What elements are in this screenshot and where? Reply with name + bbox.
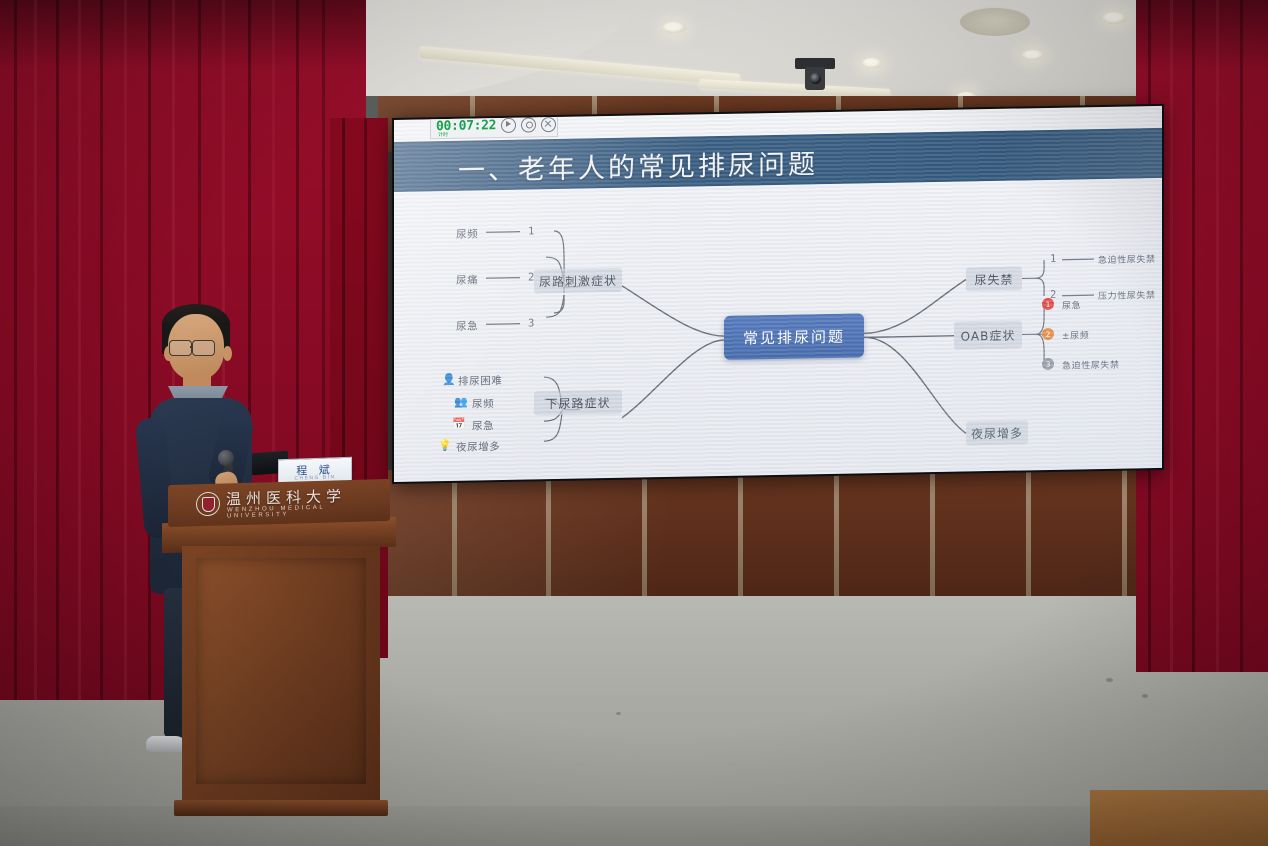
floor-speck (1142, 694, 1148, 698)
wood-panel-lower (380, 470, 1268, 600)
eyeglasses-right-lens (192, 340, 215, 356)
wood-seam (1122, 470, 1127, 600)
curtain-shadow (1136, 0, 1268, 70)
mindmap-leaf: 压力性尿失禁 (1098, 288, 1156, 302)
curtain-pleat (34, 0, 37, 700)
wooden-floor-strip (1090, 790, 1268, 846)
mindmap-leaf: 急迫性尿失禁 (1062, 358, 1120, 372)
wood-seam (452, 470, 457, 600)
mindmap-leaf: 急迫性尿失禁 (1098, 252, 1156, 266)
podium-base (174, 800, 388, 816)
node-label: 尿失禁 (974, 270, 1013, 288)
record-icon[interactable] (521, 117, 536, 132)
mindmap-center-node[interactable]: 常见排尿问题 (724, 313, 864, 360)
ceiling-air-vent (958, 6, 1032, 38)
person-icon: 👤 (442, 373, 456, 386)
curtain-pleat (100, 0, 103, 700)
wood-seam (834, 470, 839, 600)
close-icon[interactable] (541, 116, 556, 131)
ear (223, 346, 232, 361)
lecture-hall-scene: 一、老年人的常见排尿问题 00:07:22 计时 (0, 0, 1268, 846)
mindmap-leaf: 夜尿增多 (456, 439, 500, 455)
calendar-icon: 📅 (452, 418, 466, 431)
curtain-pleat (1192, 0, 1195, 672)
slide-title-text: 一、老年人的常见排尿问题 (458, 142, 818, 188)
mindmap-leaf: 尿急 (472, 418, 494, 433)
curtain-pleat (124, 0, 127, 700)
projection-screen[interactable]: 一、老年人的常见排尿问题 00:07:22 计时 (394, 106, 1162, 482)
curtain-pleat (56, 0, 59, 700)
floor-speck (1106, 678, 1113, 682)
university-crest-icon (196, 492, 220, 517)
center-node-label: 常见排尿问题 (743, 325, 845, 348)
floor-speck (616, 712, 621, 715)
wood-seam (1026, 470, 1031, 600)
mindmap: 常见排尿问题 尿路刺激症状 尿频 1 尿痛 2 尿急 3 (394, 180, 1162, 482)
wood-seam (738, 470, 743, 600)
curtain-pleat (1240, 0, 1243, 672)
wood-seam (642, 470, 647, 600)
ceiling-downlight (862, 58, 882, 68)
camera-lens-icon (810, 73, 821, 84)
curtain-pleat (14, 0, 17, 700)
crest-shield (202, 496, 215, 511)
projection-screen-frame: 一、老年人的常见排尿问题 00:07:22 计时 (392, 104, 1164, 484)
podium-front-inset (196, 558, 366, 784)
podium-body (182, 546, 380, 806)
mindmap-node-lower-urinary[interactable]: 下尿路症状 (534, 390, 622, 416)
people-icon: 👥 (454, 396, 468, 409)
ceiling-downlight (662, 22, 686, 33)
mindmap-leaf: ±尿频 (1062, 328, 1089, 342)
podium-top-panel: 温州医科大学 WENZHOU MEDICAL UNIVERSITY (168, 479, 390, 527)
timer-sub-label: 计时 (438, 131, 448, 138)
curtain-pleat (1170, 0, 1173, 672)
microphone-head (218, 450, 234, 466)
podium: 温州医科大学 WENZHOU MEDICAL UNIVERSITY (162, 482, 390, 822)
play-icon[interactable] (501, 117, 516, 132)
mindmap-leaf: 尿急 (1062, 298, 1081, 311)
eyeglasses-left-lens (169, 340, 192, 356)
node-label: OAB症状 (961, 326, 1016, 344)
mindmap-node-nocturia[interactable]: 夜尿增多 (966, 420, 1028, 445)
wood-seam (930, 470, 935, 600)
mindmap-node-oab[interactable]: OAB症状 (954, 320, 1022, 349)
mindmap-leaf-number: 1 (1050, 253, 1056, 265)
panel-sheen (380, 470, 788, 600)
curtain-shadow (0, 0, 366, 70)
mindmap-node-incontinence[interactable]: 尿失禁 (966, 266, 1022, 291)
node-label: 下尿路症状 (545, 393, 610, 411)
mindmap-leaf: 尿频 (472, 396, 494, 411)
ceiling-downlight (1022, 50, 1044, 60)
curtain-pleat (1216, 0, 1219, 672)
ceiling-downlight (1102, 12, 1127, 24)
curtain-pleat (78, 0, 81, 700)
lightbulb-icon: 💡 (438, 439, 452, 452)
mindmap-leaf: 排尿困难 (458, 373, 502, 389)
leaf-dashes-left-1 (452, 213, 652, 377)
eyeglasses-bridge (190, 346, 193, 348)
wood-seam (546, 470, 551, 600)
node-label: 夜尿增多 (971, 424, 1023, 442)
